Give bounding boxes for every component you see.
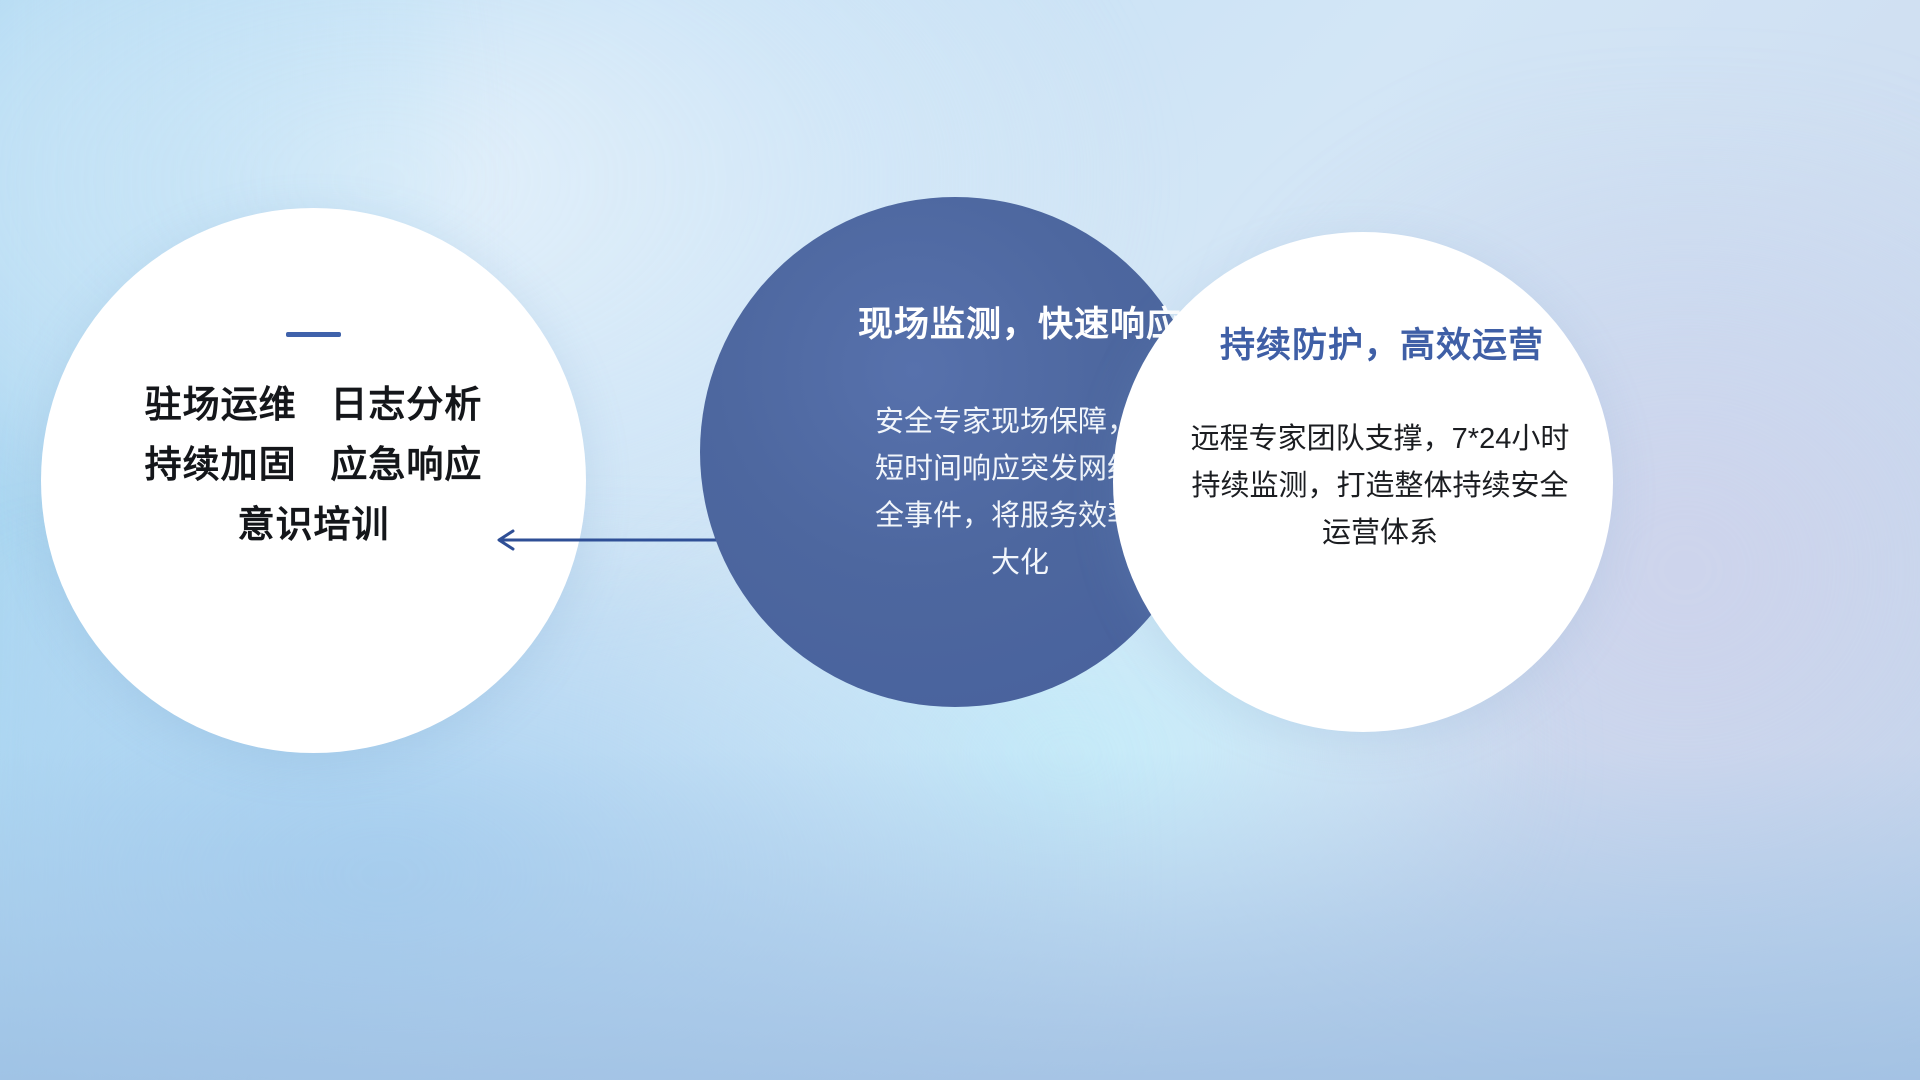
left-circle-line-1: 驻场运维 日志分析 [145,375,483,435]
background-bottom-shade [0,750,1920,1080]
right-operations-circle: 持续防护，高效运营 远程专家团队支撑，7*24小时持续监测，打造整体持续安全运营… [1113,232,1613,732]
left-circle-text-block: 驻场运维 日志分析 持续加固 应急响应 意识培训 [145,375,483,555]
left-circle-line-2: 持续加固 应急响应 [145,435,483,495]
slide-canvas: 驻场运维 日志分析 持续加固 应急响应 意识培训 现场监测，快速响应 安全专家现… [0,0,1920,1080]
divider-dash [286,332,341,337]
flow-arrow [487,524,720,556]
left-capability-circle: 驻场运维 日志分析 持续加固 应急响应 意识培训 [41,208,586,753]
right-circle-body: 远程专家团队支撑，7*24小时持续监测，打造整体持续安全运营体系 [1185,416,1575,557]
arrow-left-icon [487,524,720,556]
middle-circle-title: 现场监测，快速响应 [858,296,1182,347]
left-circle-line-3: 意识培训 [145,495,483,555]
right-circle-title: 持续防护，高效运营 [1220,317,1544,368]
